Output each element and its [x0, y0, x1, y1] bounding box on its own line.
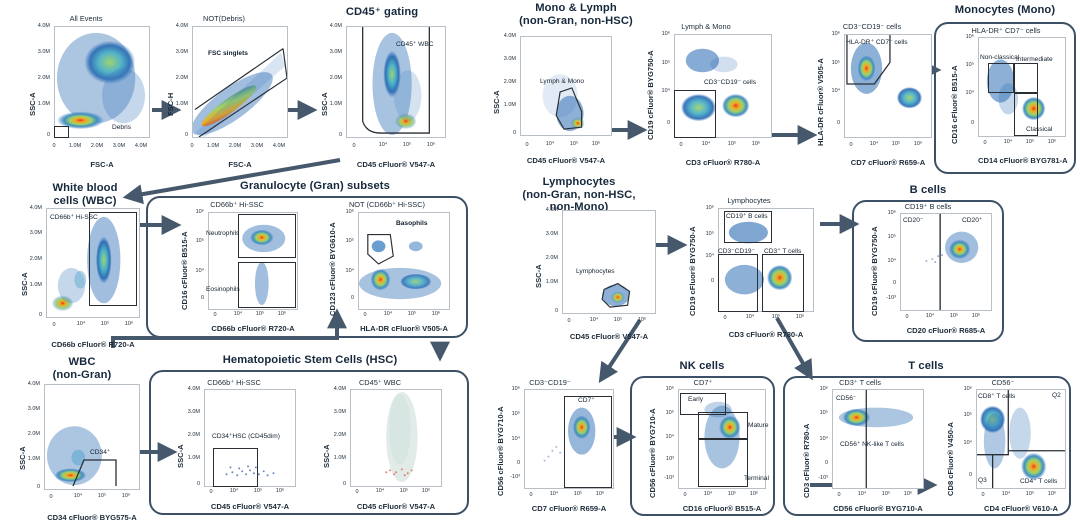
- xtick: 10⁴: [586, 317, 602, 323]
- ytick: 0: [12, 484, 40, 490]
- plot-xlabel: CD45 cFluor® V547-A: [346, 160, 446, 169]
- plot-ylabel: CD8 cFluor® V450-A: [946, 422, 955, 496]
- xtick: 10⁴: [226, 488, 242, 494]
- ytick: 2.0M: [528, 255, 558, 261]
- ytick: -10³: [650, 475, 674, 481]
- xtick: 10⁶: [900, 491, 916, 497]
- plot-mono-lymph: Lymph & Mono CD45 cFluor® V547-A SSC-A 4…: [486, 32, 614, 172]
- gate-label-cd34-hsc: CD34⁺HSC (CD45dim): [212, 432, 280, 440]
- ytick: 2.0M: [160, 75, 188, 81]
- xtick: 10⁴: [922, 313, 938, 319]
- plot-nk-cd16cd56: CD7⁺ Early Mature Terminal CD16 cFluor®: [636, 378, 770, 524]
- plot-xlabel: CD66b cFluor® R720-A: [46, 340, 140, 349]
- ytick: 10⁴: [500, 436, 520, 442]
- ytick: 1.0M: [528, 279, 558, 285]
- basophil-gate-outline: [359, 213, 449, 309]
- plot-t-cd4cd8: CD56⁻: [934, 378, 1072, 524]
- ytick: 10⁶: [876, 210, 896, 216]
- plot-xlabel: FSC-A: [192, 160, 288, 169]
- plot-title: All Events: [20, 14, 152, 23]
- ytick: 1.0M: [22, 101, 50, 107]
- ytick: 3.0M: [528, 231, 558, 237]
- gate-label-q2: Q2: [1052, 392, 1061, 399]
- plot-ylabel: CD19 cFluor® BYG750-A: [688, 226, 697, 316]
- xtick: 10⁵: [1022, 139, 1038, 145]
- gate-label-cd34: CD34⁺: [90, 448, 110, 456]
- ytick: 2.0M: [314, 75, 342, 81]
- ytick: 4.0M: [14, 205, 42, 211]
- ytick: 0: [314, 132, 342, 138]
- xtick: 0: [976, 492, 990, 498]
- plot-xlabel: CD45 cFluor® V547-A: [520, 156, 612, 165]
- plot-frame: [350, 389, 442, 487]
- gate-intermediate: [1014, 63, 1038, 93]
- gate-label-hladr-cd7: HLA-DR⁺ CD7⁻ cells: [846, 38, 908, 46]
- xtick: 10⁵: [724, 491, 740, 497]
- xtick: 4.0M: [132, 143, 150, 149]
- gate-label-cd19-b-cells: CD19⁺ B cells: [726, 212, 768, 220]
- quadrant-lines: [977, 390, 1065, 488]
- ytick: 10⁴: [876, 258, 896, 264]
- ytick: 10⁶: [650, 31, 670, 37]
- plot-xlabel: CD20 cFluor® R685-A: [900, 326, 992, 335]
- plot-title: NOT(Debris): [158, 14, 290, 23]
- gate-label-mature: Mature: [748, 422, 769, 429]
- plot-lymph-mono-cd3: Lymph & Mono: [636, 22, 776, 172]
- xtick: 10⁴: [700, 491, 716, 497]
- plot-xlabel: CD45 cFluor® V547-A: [562, 332, 656, 341]
- gate-label-basophils: Basophils: [396, 220, 428, 227]
- gate-neutrophils: [238, 214, 296, 258]
- plot-frame: [562, 210, 656, 314]
- ytick: 10⁴: [184, 268, 204, 274]
- xtick: 0: [520, 142, 534, 148]
- xtick: 10⁴: [998, 491, 1014, 497]
- ytick: -10³: [496, 474, 520, 480]
- scatter-cloud: [55, 27, 149, 137]
- ytick: 10⁵: [654, 410, 674, 416]
- gate-cd3-t-cells: [762, 254, 804, 312]
- xtick: 10⁴: [742, 314, 758, 320]
- plot-ylabel: CD16 cFluor® B515-A: [950, 65, 959, 144]
- plot-ylabel: HLA-DR cFluor® V505-A: [816, 58, 825, 146]
- xtick: 0: [184, 143, 200, 149]
- plot-xlabel: CD14 cFluor® BYG781-A: [978, 156, 1066, 165]
- ytick: 10³: [654, 456, 674, 462]
- ytick: 10⁴: [694, 253, 714, 259]
- ytick: 1.0M: [12, 456, 40, 462]
- ytick: 2.0M: [318, 432, 346, 438]
- xtick: 10⁶: [1044, 139, 1060, 145]
- ytick: 0: [808, 460, 828, 466]
- xtick: 10⁶: [422, 142, 440, 148]
- plot-xlabel: CD66b cFluor® R720-A: [208, 324, 298, 333]
- xtick: 10⁶: [118, 493, 134, 499]
- gate-label-non-classical: Non-classical: [980, 54, 1019, 61]
- xtick: 10⁴: [1000, 139, 1016, 145]
- plot-nk-cd7: CD3⁻CD19⁻ CD7⁺ CD7 cFluor®: [484, 378, 616, 524]
- xtick: 10⁴: [546, 491, 562, 497]
- plot-frame: [192, 26, 288, 138]
- plot-cd45-gating: CD45⁺ WBC CD45 cFluor® V547-A SSC-A 4.0M…: [312, 14, 452, 174]
- plot-wbc-nongran: CD34⁺ CD34 cFluor® BYG575-A SSC-A 4.0M 3…: [12, 378, 144, 528]
- plot-hsc-2: CD45⁺ WBC CD45 cFluor® V547-A SSC-A 4.0M…: [312, 378, 448, 518]
- xtick: 10⁵: [566, 141, 582, 147]
- ytick: 10⁵: [952, 412, 972, 418]
- plot-frame: [844, 34, 932, 138]
- xtick: 10⁵: [404, 311, 420, 317]
- xtick: 10⁶: [968, 313, 984, 319]
- xtick: 10⁵: [96, 321, 114, 327]
- gate-cd3-cd19-neg: [718, 254, 758, 312]
- ytick: 1.0M: [488, 102, 516, 108]
- ytick: 0: [14, 312, 42, 318]
- gate-label-cd45-wbc: CD45⁺ WBC: [396, 40, 434, 48]
- xtick: 10⁶: [746, 491, 762, 497]
- xtick: 10⁴: [380, 311, 396, 317]
- plot-ylabel: CD56 cFluor® BYG710-A: [496, 406, 505, 496]
- xtick: 10⁴: [854, 491, 870, 497]
- gate-label-debris: Debris: [112, 124, 131, 131]
- ytick: 0: [172, 481, 200, 487]
- ytick: 10⁵: [650, 60, 670, 66]
- cd34-gate-outline: [12, 378, 144, 528]
- gate-debris: [54, 126, 69, 138]
- xtick: 10⁵: [888, 141, 904, 147]
- ytick: 10⁶: [808, 386, 828, 392]
- plot-xlabel: CD34 cFluor® BYG575-A: [44, 513, 140, 522]
- gate-label-eosinophils: Eosinophils: [206, 286, 240, 293]
- xtick: 10⁶: [592, 491, 608, 497]
- ytick: 0: [160, 132, 188, 138]
- xtick: 0: [844, 142, 858, 148]
- xtick: 10⁶: [588, 141, 604, 147]
- xtick: 0: [978, 140, 992, 146]
- gate-cd66b-hi-ssc: [89, 212, 137, 306]
- ytick: 0: [876, 280, 896, 286]
- plot-frame: [832, 389, 924, 489]
- ytick: 2.0M: [22, 75, 50, 81]
- ytick: 4.0M: [22, 23, 50, 29]
- plot-xlabel: CD7 cFluor® R659-A: [844, 158, 932, 167]
- xtick: 4.0M: [270, 143, 288, 149]
- xtick: 10⁶: [274, 311, 290, 317]
- ytick: 0: [22, 132, 50, 138]
- xtick: 10⁴: [230, 311, 246, 317]
- xtick: 0: [524, 492, 538, 498]
- xtick: 0: [350, 489, 364, 495]
- xtick: 3.0M: [248, 143, 266, 149]
- plot-xlabel: FSC-A: [54, 160, 150, 169]
- ytick: 10⁵: [820, 60, 840, 66]
- xtick: 0: [900, 314, 914, 320]
- xtick: 10⁴: [374, 142, 392, 148]
- ytick: 3.0M: [22, 49, 50, 55]
- ytick: -10³: [804, 475, 828, 481]
- gate-label-lymphocytes: Lymphocytes: [576, 268, 615, 275]
- gate-label-neutrophils: Neutrophils: [206, 230, 239, 237]
- xtick: 10⁶: [634, 317, 650, 323]
- ytick: 4.0M: [160, 23, 188, 29]
- ytick: 2.0M: [12, 431, 40, 437]
- hladr-gate-outline: [845, 35, 931, 137]
- plot-t-cd56: CD3⁺ T cells CD56⁻ CD56⁺ NK-like T cells…: [790, 378, 930, 524]
- plot-title: Lymph & Mono: [636, 22, 776, 31]
- xtick: 10⁵: [946, 313, 962, 319]
- plot-xlabel: HLA-DR cFluor® V505-A: [358, 324, 450, 333]
- xtick: 0: [718, 315, 732, 321]
- plot-frame: [900, 213, 992, 311]
- xtick: 10⁶: [272, 488, 288, 494]
- xtick: 0: [44, 494, 58, 500]
- xtick: 0: [678, 492, 692, 498]
- gate-label-fsc-singlets: FSC singlets: [208, 50, 248, 57]
- xtick: 10⁵: [878, 491, 894, 497]
- xtick: 1.0M: [204, 143, 222, 149]
- gate-label-cd3-t-cells: CD3⁺ T cells: [764, 247, 801, 255]
- ytick: 10⁵: [954, 62, 974, 68]
- ytick: 3.0M: [12, 406, 40, 412]
- ytick: 1.0M: [160, 101, 188, 107]
- ytick: 10⁶: [500, 386, 520, 392]
- ytick: 4.0M: [12, 381, 40, 387]
- ytick: 10⁴: [654, 434, 674, 440]
- plot-frame: [520, 36, 612, 136]
- ytick: 1.0M: [172, 455, 200, 461]
- xtick: 10⁶: [428, 311, 444, 317]
- gate-non-classical: [988, 63, 1014, 93]
- ytick: 0: [528, 308, 558, 314]
- gate-label-q3: Q3: [978, 477, 987, 484]
- xtick: 0: [358, 312, 372, 318]
- ytick: 0: [954, 120, 974, 126]
- xtick: 10⁵: [570, 491, 586, 497]
- gate-label-early: Early: [688, 396, 703, 403]
- xtick: 10⁴: [866, 141, 882, 147]
- xtick: 10⁶: [418, 488, 434, 494]
- xtick: 0: [674, 142, 688, 148]
- xtick: 10⁴: [542, 141, 558, 147]
- ytick: 10⁴: [952, 440, 972, 446]
- xtick: 0: [46, 322, 62, 328]
- cd56-divider: [833, 390, 923, 488]
- gating-diagram: CD45⁺ gating Granulocyte (Gran) subsets …: [0, 0, 1080, 529]
- plot-xlabel: CD45 cFluor® V547-A: [204, 502, 296, 511]
- xtick: 0: [204, 489, 218, 495]
- ytick: 10⁵: [876, 234, 896, 240]
- plot-frame: [976, 389, 1066, 489]
- gate-label-cd4-t-cells: CD4⁺ T cells: [1020, 477, 1057, 485]
- ytick: 0: [650, 120, 670, 126]
- ytick: 4.0M: [172, 386, 200, 392]
- ytick: 10⁵: [500, 411, 520, 417]
- plot-lymph-cd3cd19: Lymphocytes CD19⁺ B cells CD3⁻CD19⁻ CD3⁺…: [676, 196, 822, 346]
- ytick: -10³: [872, 295, 896, 301]
- gate-label-cd56-nk-like: CD56⁺ NK-like T cells: [840, 440, 904, 448]
- ytick: 10⁵: [694, 231, 714, 237]
- ytick: 3.0M: [488, 56, 516, 62]
- ytick: 3.0M: [318, 409, 346, 415]
- plot-xlabel: CD7 cFluor® R659-A: [524, 504, 614, 513]
- xtick: 10⁶: [792, 314, 808, 320]
- xtick: 0: [562, 318, 576, 324]
- xtick: 10⁵: [250, 488, 266, 494]
- ytick: 10⁴: [334, 268, 354, 274]
- ytick: 10⁶: [334, 209, 354, 215]
- ytick: 4.0M: [528, 207, 558, 213]
- ytick: 10⁴: [954, 90, 974, 96]
- gate-label-cd56-neg: CD56⁻: [836, 394, 856, 402]
- xtick: 10⁵: [94, 493, 110, 499]
- ytick: 0: [184, 295, 204, 301]
- plot-not-debris: NOT(Debris) FSC: [158, 14, 290, 174]
- plot-gran-baso: NOT (CD66b⁺ Hi-SSC): [318, 200, 456, 336]
- xtick: 2.0M: [88, 143, 106, 149]
- xtick: 10⁶: [1044, 491, 1060, 497]
- gate-label-cd8-t-cells: CD8⁺ T cells: [978, 392, 1015, 400]
- gate-label-cd3-cd19: CD3⁻CD19⁻: [718, 247, 755, 255]
- plot-ylabel: CD56 cFluor® BYG710-A: [648, 408, 657, 498]
- xtick: 10⁶: [120, 321, 138, 327]
- xtick: 0: [46, 143, 62, 149]
- ytick: 10⁵: [808, 410, 828, 416]
- ytick: 2.0M: [488, 79, 516, 85]
- gate-label-lymph-mono: Lymph & Mono: [540, 78, 584, 85]
- ytick: 4.0M: [318, 386, 346, 392]
- gate-cd3-cd19-neg: [674, 90, 716, 138]
- ytick: 10⁵: [334, 238, 354, 244]
- ytick: 3.0M: [314, 49, 342, 55]
- singlet-gate-outline: [193, 27, 287, 137]
- ytick: 10⁵: [184, 238, 204, 244]
- plot-bcell-cd20: CD19⁺ B cells: [858, 202, 998, 342]
- plot-title: NOT (CD66b⁺ Hi-SSC): [318, 200, 456, 209]
- scatter-cloud: [351, 390, 441, 486]
- lymph-mono-gate-outline: [521, 37, 611, 135]
- ytick: 10⁶: [694, 205, 714, 211]
- ytick: 1.0M: [314, 101, 342, 107]
- ytick: 0: [820, 120, 840, 126]
- ytick: 0: [318, 481, 346, 487]
- gate-label-cd66b-hi-ssc: CD66b⁺ Hi-SSC: [50, 213, 98, 221]
- plot-hsc-1: CD66b⁺ Hi-SSC CD34⁺HSC (CD45dim) CD45 cF…: [166, 378, 302, 518]
- ytick: 10⁴: [820, 88, 840, 94]
- plot-gran-cd16: CD66b⁺ Hi-SSC Neutrophils Eosinophils CD…: [172, 200, 302, 336]
- ytick: 0: [500, 460, 520, 466]
- xtick: 10⁵: [724, 141, 740, 147]
- ytick: 0: [694, 278, 714, 284]
- plot-xlabel: CD3 cFluor® R780-A: [674, 158, 772, 167]
- xtick: 10⁵: [768, 314, 784, 320]
- gate-label-classical: Classical: [1026, 126, 1052, 133]
- xtick: 3.0M: [110, 143, 128, 149]
- plot-mono-cd14cd16: HLA-DR⁺ CD7⁻ cells Non-classical Interme…: [940, 26, 1072, 172]
- ytick: 3.0M: [172, 409, 200, 415]
- gate-cd7-pos: [564, 396, 612, 488]
- lymphocyte-gate-outline: [563, 211, 655, 313]
- ytick: 4.0M: [488, 33, 516, 39]
- ytick: 10⁶: [820, 31, 840, 37]
- ytick: 2.0M: [172, 432, 200, 438]
- gate-eosinophils: [238, 262, 296, 308]
- ytick: 10⁶: [954, 34, 974, 40]
- plot-all-events: All Events: [20, 14, 152, 174]
- ytick: 3.0M: [14, 230, 42, 236]
- gate-label-cd20-pos: CD20⁺: [962, 216, 982, 224]
- gate-mature: [698, 412, 748, 439]
- ytick: 10⁶: [654, 386, 674, 392]
- gate-terminal: [698, 439, 748, 487]
- xtick: 10⁵: [610, 317, 626, 323]
- gate-label-intermediate: Intermediate: [1016, 56, 1053, 63]
- gate-cd34-hsc: [213, 448, 258, 487]
- ytick: 10⁴: [650, 88, 670, 94]
- xtick: 10⁴: [698, 141, 714, 147]
- gate-label-terminal: Terminal: [744, 475, 769, 482]
- gate-label-cd7-pos: CD7⁺: [578, 396, 595, 404]
- xtick: 10⁶: [748, 141, 764, 147]
- ytick: 2.0M: [14, 256, 42, 262]
- xtick: 10⁴: [372, 488, 388, 494]
- xtick: 10⁵: [252, 311, 268, 317]
- plot-wbc-ssc: CD66b⁺ Hi-SSC CD66b cFluor® R720-A SSC-A…: [14, 200, 142, 355]
- plot-xlabel: CD3 cFluor® R780-A: [718, 330, 814, 339]
- ytick: 3.0M: [160, 49, 188, 55]
- xtick: 10⁴: [70, 493, 86, 499]
- xtick: 0: [832, 492, 846, 498]
- ytick: 10⁶: [952, 386, 972, 392]
- xtick: 10⁵: [398, 142, 416, 148]
- gate-label-cd3-cd19: CD3⁻CD19⁻ cells: [704, 78, 756, 86]
- xtick: 2.0M: [226, 143, 244, 149]
- plot-cd3cd19-hladr: CD3⁻CD19⁻ cells: [806, 22, 938, 172]
- plot-xlabel: CD4 cFluor® V610-A: [976, 504, 1066, 513]
- ytick: 10⁴: [808, 436, 828, 442]
- plot-title: CD66b⁺ Hi-SSC: [172, 200, 302, 209]
- xtick: 10⁴: [72, 321, 90, 327]
- ytick: 1.0M: [14, 282, 42, 288]
- plot-xlabel: CD45 cFluor® V547-A: [350, 502, 442, 511]
- xtick: 0: [346, 143, 362, 149]
- cd20-divider: [901, 214, 991, 310]
- plot-xlabel: CD16 cFluor® B515-A: [678, 504, 766, 513]
- xtick: 0: [208, 312, 222, 318]
- plot-lymph-ssc: Lymphocytes CD45 cFluor® V547-A SSC-A 4.…: [528, 206, 658, 346]
- xtick: 10⁵: [1022, 491, 1038, 497]
- xtick: 10⁵: [396, 488, 412, 494]
- plot-title: CD3⁻CD19⁻ cells: [806, 22, 938, 31]
- plot-xlabel: CD56 cFluor® BYG710-A: [832, 504, 924, 513]
- gate-label-cd20-neg: CD20⁻: [903, 216, 923, 224]
- ytick: 0: [334, 295, 354, 301]
- ytick: 10⁶: [184, 209, 204, 215]
- plot-frame: [54, 26, 150, 138]
- ytick: 4.0M: [314, 23, 342, 29]
- ytick: 0: [488, 130, 516, 136]
- xtick: 1.0M: [66, 143, 84, 149]
- xtick: 10⁶: [910, 141, 926, 147]
- ytick: 0: [952, 472, 972, 478]
- ytick: 1.0M: [318, 455, 346, 461]
- plot-title: Lymphocytes: [676, 196, 822, 205]
